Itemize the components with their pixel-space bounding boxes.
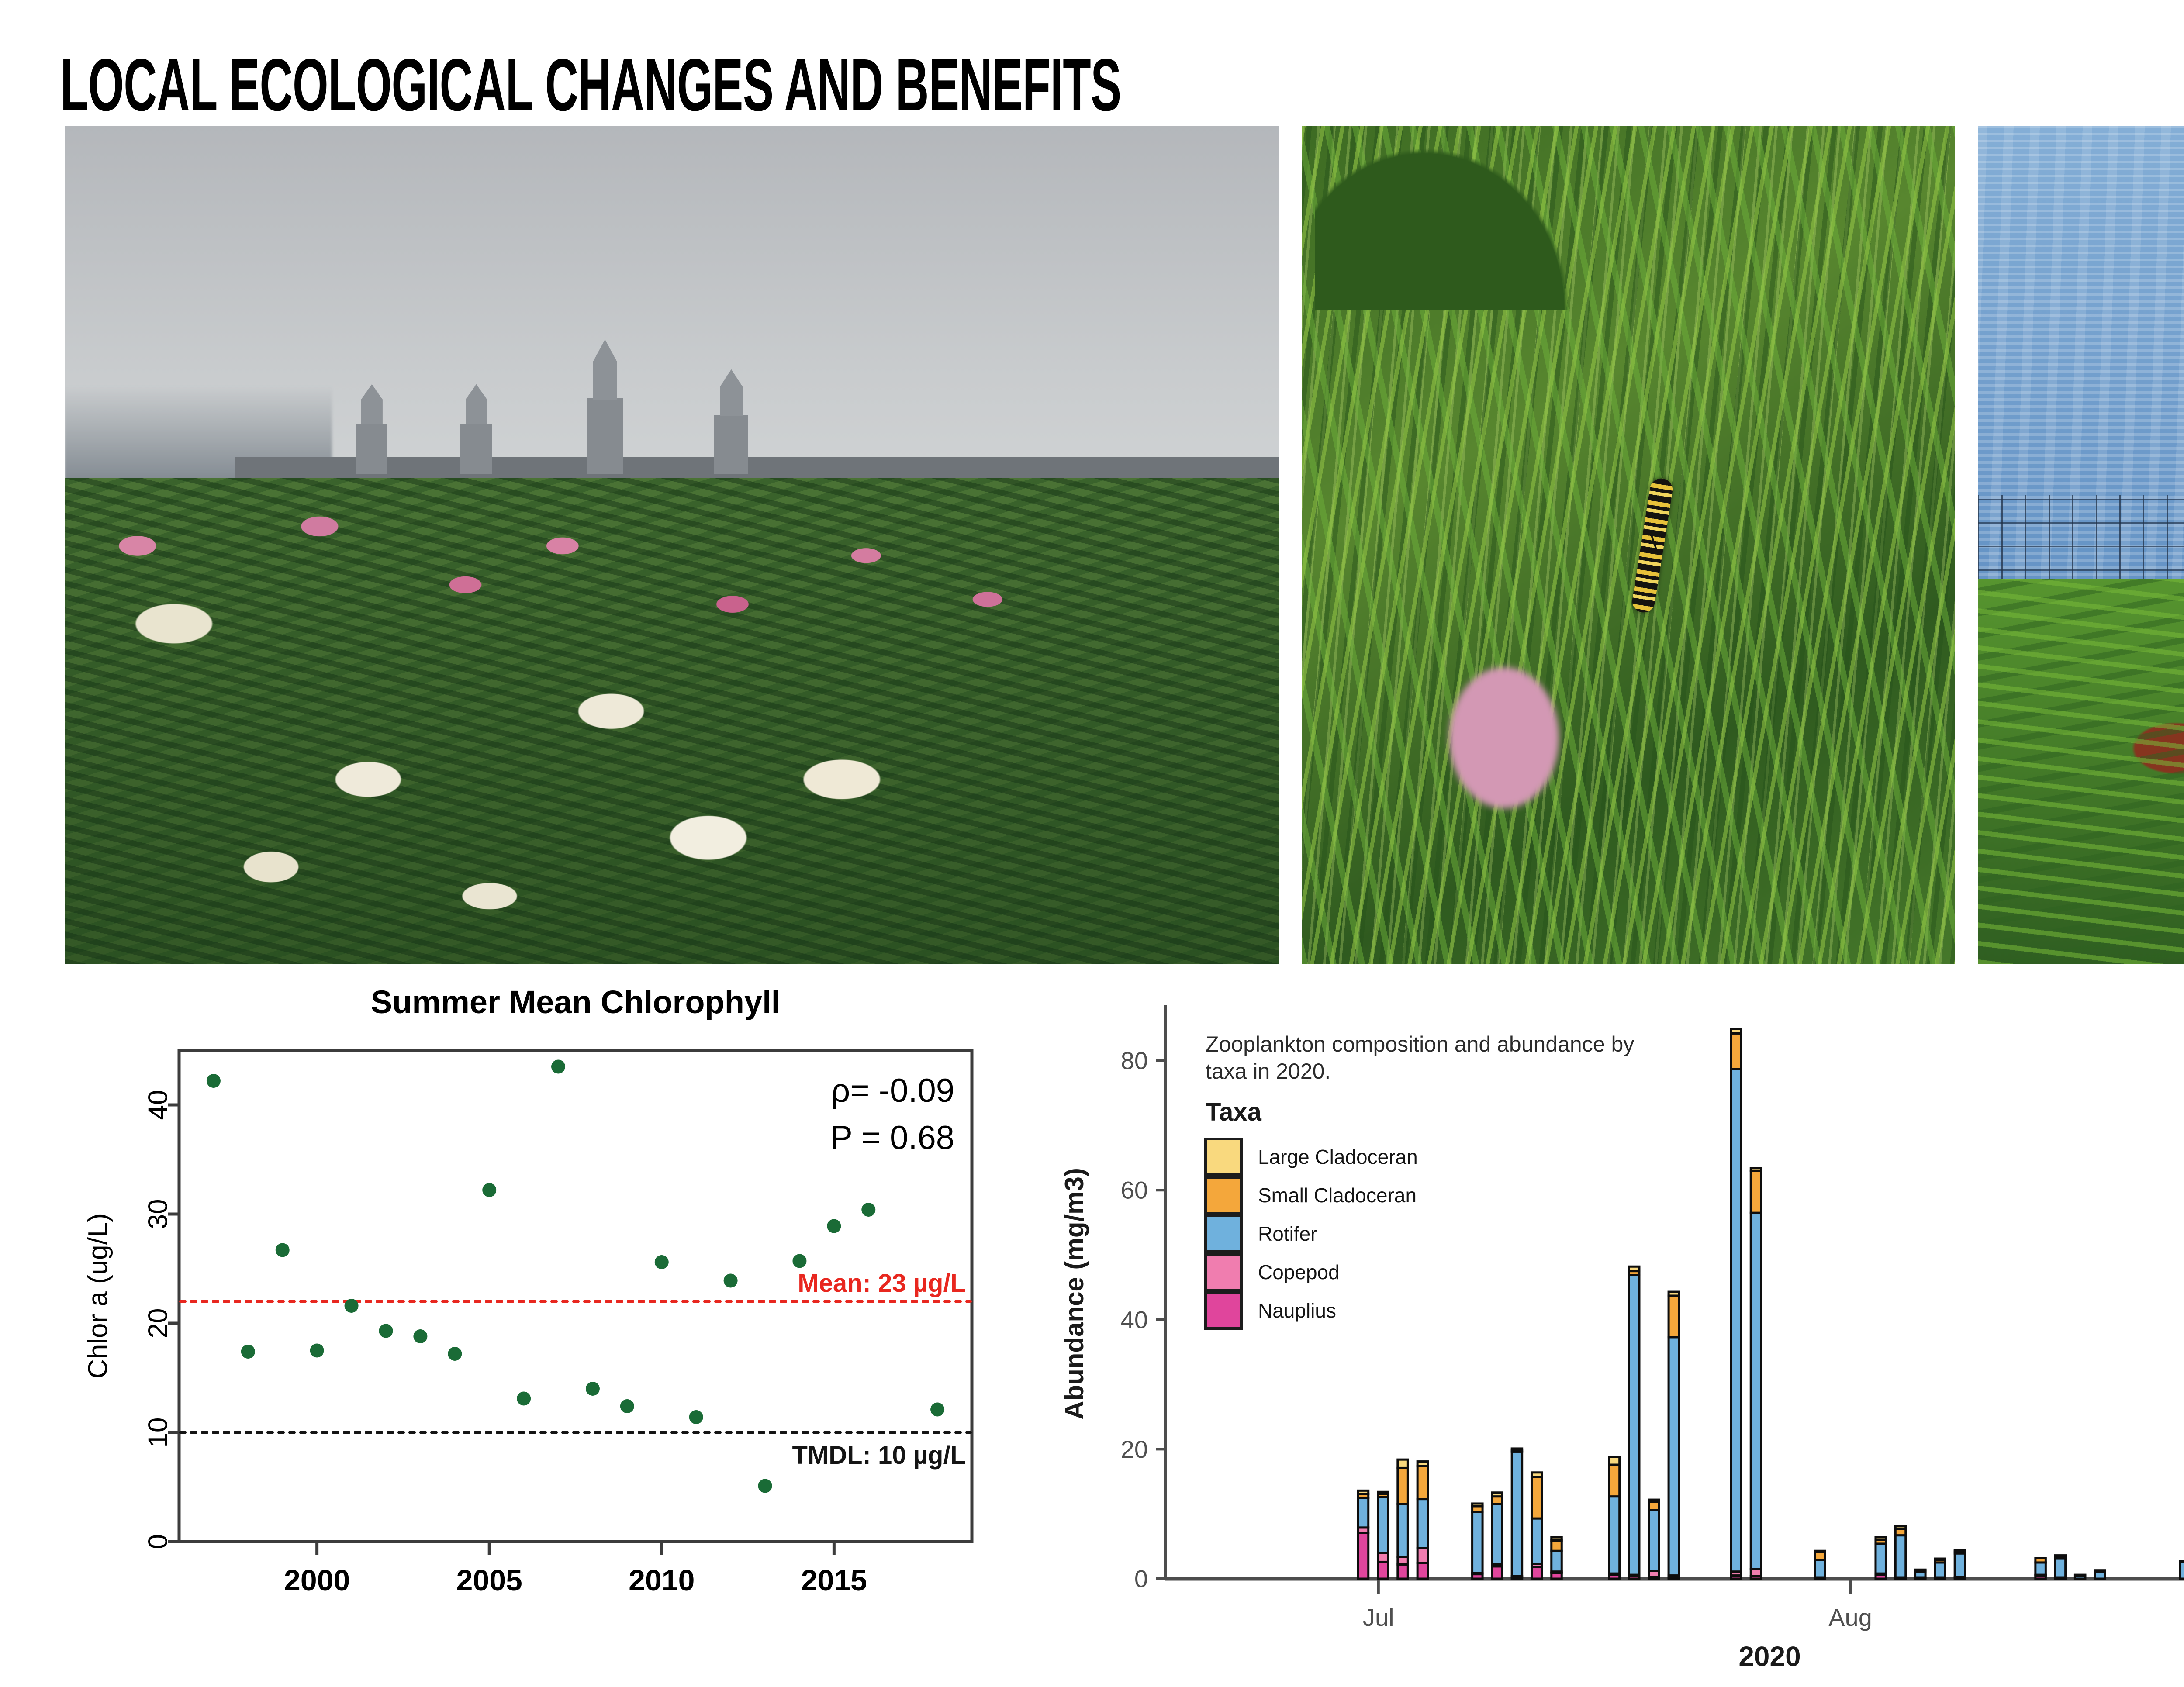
data-point — [586, 1382, 600, 1396]
bar-group — [1358, 1029, 2184, 1579]
bar-segment[interactable] — [1378, 1553, 1389, 1562]
bar-segment[interactable] — [1649, 1510, 1659, 1571]
data-point — [207, 1074, 221, 1088]
bridge-tower — [587, 398, 623, 474]
y-axis-tick-label: 0 — [1134, 1565, 1148, 1593]
data-point — [482, 1183, 496, 1197]
bar-segment[interactable] — [1751, 1168, 1761, 1171]
y-axis-tick-label: 40 — [1121, 1306, 1148, 1333]
bridge-tower — [460, 424, 492, 474]
bar-segment[interactable] — [1398, 1564, 1408, 1579]
mean-line-label: Mean: 23 µg/L — [798, 1269, 966, 1297]
bar-segment[interactable] — [1492, 1497, 1503, 1504]
data-point — [241, 1345, 255, 1359]
caterpillar-antenna — [1650, 532, 1658, 552]
x-axis-tick-label: 2015 — [801, 1564, 867, 1597]
y-axis-tick-label: 40 — [143, 1090, 173, 1120]
bar-segment[interactable] — [1417, 1563, 1428, 1579]
bar-segment[interactable] — [1955, 1553, 1965, 1577]
legend-label: Rotifer — [1258, 1222, 1317, 1245]
bar-segment[interactable] — [1649, 1502, 1659, 1510]
x-axis-tick-label: Aug — [1828, 1604, 1872, 1631]
bar-segment[interactable] — [1935, 1563, 1946, 1577]
bar-segment[interactable] — [1552, 1541, 1562, 1551]
bridge-tower — [714, 415, 748, 473]
x-axis-tick-label: 2005 — [456, 1564, 522, 1597]
data-point — [276, 1243, 290, 1257]
serrated-leaf — [1315, 126, 1589, 310]
legend-label: Copepod — [1258, 1261, 1340, 1283]
data-point — [792, 1254, 806, 1268]
legend-swatch[interactable] — [1206, 1177, 1241, 1213]
chart-title: Summer Mean Chlorophyll — [371, 984, 780, 1020]
bar-segment[interactable] — [1398, 1504, 1408, 1556]
bar-segment[interactable] — [1609, 1457, 1620, 1465]
bar-segment[interactable] — [1895, 1535, 1906, 1577]
legend-label: Large Cladoceran — [1258, 1145, 1418, 1168]
bar-segment[interactable] — [1378, 1492, 1389, 1494]
tmdl-line-label: TMDL: 10 µg/L — [792, 1441, 966, 1470]
data-point — [448, 1347, 462, 1361]
bar-segment[interactable] — [1512, 1449, 1522, 1450]
legend-label: Small Cladoceran — [1258, 1184, 1417, 1207]
bar-segment[interactable] — [2180, 1562, 2184, 1579]
bar-segment[interactable] — [1417, 1466, 1428, 1499]
y-axis-tick-label: 20 — [1121, 1435, 1148, 1463]
bar-segment[interactable] — [1751, 1171, 1761, 1213]
y-axis-title: Abundance (mg/m3) — [1060, 1168, 1089, 1420]
bar-segment[interactable] — [1531, 1567, 1542, 1579]
data-point — [413, 1329, 427, 1343]
bar-segment[interactable] — [1531, 1518, 1542, 1564]
legend-swatch[interactable] — [1206, 1254, 1241, 1290]
bar-segment[interactable] — [2075, 1575, 2085, 1576]
bar-segment[interactable] — [1669, 1292, 1679, 1296]
bar-segment[interactable] — [1731, 1069, 1742, 1572]
bar-segment[interactable] — [1472, 1512, 1483, 1573]
data-point — [345, 1299, 359, 1313]
bar-segment[interactable] — [1398, 1557, 1408, 1565]
bar-segment[interactable] — [1552, 1551, 1562, 1571]
photo-monarch-caterpillar — [1302, 126, 1955, 964]
bar-segment[interactable] — [1815, 1560, 1825, 1577]
photo-bridge-hibiscus-marsh — [65, 126, 1279, 964]
bar-segment[interactable] — [1895, 1526, 1906, 1529]
bar-segment[interactable] — [1915, 1570, 1926, 1570]
bar-segment[interactable] — [2055, 1559, 2066, 1577]
chart-summer-mean-chlorophyll: Summer Mean Chlorophyll010203040Chlor a … — [70, 965, 987, 1673]
bar-segment[interactable] — [1609, 1465, 1620, 1497]
data-point — [758, 1479, 772, 1493]
rho-annotation: ρ= -0.09 — [831, 1072, 954, 1109]
bar-segment[interactable] — [1955, 1550, 1965, 1552]
bar-segment[interactable] — [1358, 1533, 1368, 1579]
bar-segment[interactable] — [2180, 1561, 2184, 1562]
y-axis-tick-label: 20 — [143, 1308, 173, 1339]
bar-segment[interactable] — [1417, 1548, 1428, 1563]
bar-segment[interactable] — [1552, 1537, 1562, 1540]
bar-segment[interactable] — [1669, 1296, 1679, 1337]
bar-segment[interactable] — [1649, 1500, 1659, 1501]
bar-segment[interactable] — [1358, 1498, 1368, 1528]
y-axis-tick-label: 80 — [1121, 1047, 1148, 1074]
data-point — [655, 1255, 669, 1269]
bridge-tower — [356, 424, 387, 474]
bar-segment[interactable] — [1815, 1551, 1825, 1552]
y-axis-title: Chlor a (ug/L) — [83, 1213, 113, 1379]
x-axis-tick-label: 2010 — [629, 1564, 695, 1597]
bar-segment[interactable] — [1876, 1544, 1886, 1573]
pink-flower-bud — [1432, 645, 1576, 830]
bar-segment[interactable] — [1629, 1275, 1639, 1575]
bar-segment[interactable] — [1398, 1468, 1408, 1504]
bar-segment[interactable] — [2035, 1563, 2046, 1575]
bar-segment[interactable] — [1531, 1477, 1542, 1518]
data-point — [551, 1060, 565, 1074]
legend-label: Nauplius — [1258, 1299, 1336, 1322]
bar-segment[interactable] — [2035, 1558, 2046, 1563]
p-annotation: P = 0.68 — [830, 1119, 954, 1156]
x-axis-title: 2020 — [1738, 1641, 1800, 1672]
hibiscus-marsh-vegetation — [65, 478, 1279, 964]
data-point — [517, 1392, 531, 1406]
y-axis-tick-label: 30 — [143, 1199, 173, 1229]
y-axis-tick-label: 60 — [1121, 1176, 1148, 1204]
bar-segment[interactable] — [1669, 1337, 1679, 1576]
y-axis-tick-label: 10 — [143, 1418, 173, 1448]
data-point — [689, 1410, 703, 1424]
bar-segment[interactable] — [1935, 1559, 1946, 1560]
data-point — [861, 1203, 875, 1217]
data-point — [930, 1403, 944, 1417]
bar-segment[interactable] — [1492, 1493, 1503, 1497]
bar-segment[interactable] — [1815, 1552, 1825, 1560]
bar-segment[interactable] — [1358, 1490, 1368, 1494]
bar-segment[interactable] — [1492, 1566, 1503, 1579]
bar-segment[interactable] — [1512, 1452, 1522, 1576]
bar-segment[interactable] — [1398, 1459, 1408, 1468]
bar-segment[interactable] — [2095, 1570, 2105, 1571]
bar-segment[interactable] — [1609, 1497, 1620, 1573]
bar-segment[interactable] — [1629, 1266, 1639, 1271]
x-axis-tick-label: Jul — [1363, 1604, 1394, 1631]
x-axis-tick-label: 2000 — [284, 1564, 350, 1597]
bar-segment[interactable] — [1417, 1462, 1428, 1466]
bar-segment[interactable] — [2055, 1556, 2066, 1557]
legend-swatch[interactable] — [1206, 1216, 1241, 1252]
chart-subtitle-line2: taxa in 2020. — [1206, 1059, 1330, 1083]
data-point — [620, 1399, 634, 1413]
data-point — [379, 1324, 393, 1338]
legend-swatch[interactable] — [1206, 1293, 1241, 1328]
y-axis-tick-label: 0 — [143, 1534, 173, 1549]
bar-segment[interactable] — [1751, 1213, 1761, 1569]
bar-segment[interactable] — [1492, 1504, 1503, 1564]
bar-segment[interactable] — [1731, 1029, 1742, 1033]
data-point — [310, 1344, 324, 1358]
legend-title: Taxa — [1206, 1098, 1262, 1126]
data-point — [827, 1219, 841, 1233]
data-point — [724, 1274, 738, 1288]
page-title: LOCAL ECOLOGICAL CHANGES AND BENEFITS — [60, 48, 1121, 122]
bar-segment[interactable] — [1531, 1473, 1542, 1477]
bar-segment[interactable] — [1417, 1499, 1428, 1549]
chart-zooplankton-composition: 020406080Abundance (mg/m3)JulAugSep2020Z… — [1048, 991, 2184, 1673]
bar-segment[interactable] — [1876, 1537, 1886, 1540]
chart-subtitle-line1: Zooplankton composition and abundance by — [1206, 1032, 1634, 1056]
photo-great-blue-heron — [1978, 126, 2184, 964]
bar-segment[interactable] — [1731, 1033, 1742, 1069]
legend-swatch[interactable] — [1206, 1139, 1241, 1175]
bar-segment[interactable] — [1472, 1504, 1483, 1506]
bar-segment[interactable] — [1378, 1562, 1389, 1579]
bar-segment[interactable] — [1378, 1497, 1389, 1553]
riverbank-vegetation — [1978, 579, 2184, 964]
